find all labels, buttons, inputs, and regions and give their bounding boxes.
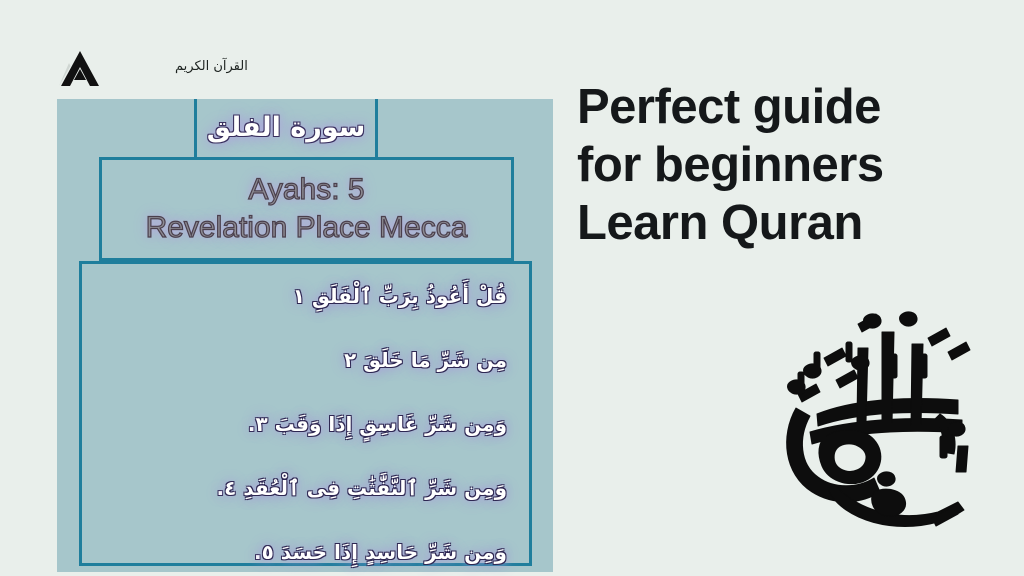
triangle-a-logo-icon <box>59 51 99 86</box>
surah-verses-box: قُلْ أَعُوذُ بِرَبِّ ٱلْفَلَقِ ١ مِن شَر… <box>79 261 532 566</box>
surah-ayah-count: Ayahs: 5 <box>248 171 364 209</box>
verse-4: وَمِن شَرِّ ٱلنَّفَّٰثَٰتِ فِى ٱلْعُقَدِ… <box>96 474 507 502</box>
brand-logo[interactable] <box>57 49 103 87</box>
verse-1: قُلْ أَعُوذُ بِرَبِّ ٱلْفَلَقِ ١ <box>96 282 507 310</box>
quran-kareem-calligraphy-icon <box>762 296 990 546</box>
verse-3: وَمِن شَرِّ غَاسِقٍ إِذَا وَقَبَ ٣. <box>96 410 507 438</box>
promo-line-3: Learn Quran <box>577 194 1007 252</box>
surah-title: سورة الفلق <box>207 111 366 145</box>
promo-line-2: for beginners <box>577 136 1007 194</box>
surah-info-box: Ayahs: 5 Revelation Place Mecca <box>99 157 514 261</box>
verse-2: مِن شَرِّ مَا خَلَقَ ٢ <box>96 346 507 374</box>
promo-heading: Perfect guide for beginners Learn Quran <box>577 78 1007 252</box>
surah-panel: سورة الفلق Ayahs: 5 Revelation Place Mec… <box>57 99 553 572</box>
surah-title-box: سورة الفلق <box>194 99 378 157</box>
verse-5: وَمِن شَرِّ حَاسِدٍ إِذَا حَسَدَ ٥. <box>96 538 507 566</box>
brand-arabic-label: القرآن الكريم <box>175 58 315 76</box>
surah-revelation-place: Revelation Place Mecca <box>146 209 468 247</box>
promo-line-1: Perfect guide <box>577 78 1007 136</box>
